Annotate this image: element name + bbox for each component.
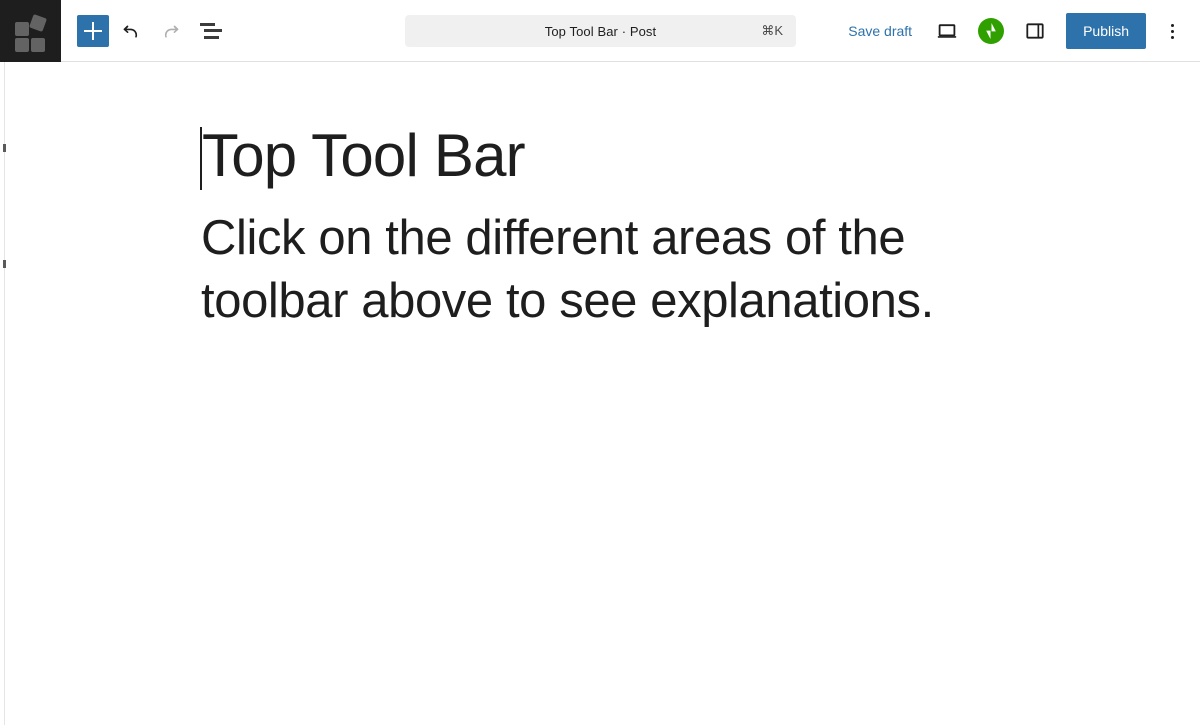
list-view-button[interactable] (193, 13, 229, 49)
canvas-left-rail (4, 62, 5, 725)
redo-arrow-icon (159, 19, 183, 43)
list-view-icon (200, 22, 222, 40)
settings-sidebar-icon (1023, 19, 1047, 43)
site-logo-button[interactable] (0, 0, 61, 62)
editor-top-toolbar: Top Tool Bar · Post ⌘K Save draft (0, 0, 1200, 62)
undo-arrow-icon (119, 19, 143, 43)
canvas-rail-tick (3, 260, 6, 268)
undo-button[interactable] (113, 13, 149, 49)
add-block-button[interactable] (77, 15, 109, 47)
jetpack-button[interactable] (973, 13, 1009, 49)
preview-button[interactable] (929, 13, 965, 49)
command-bar-shortcut: ⌘K (761, 23, 783, 39)
post-content-area: Top Tool Bar Click on the different area… (200, 122, 1020, 333)
redo-button[interactable] (153, 13, 189, 49)
save-draft-button[interactable]: Save draft (836, 17, 924, 45)
canvas-rail-tick (3, 144, 6, 152)
publish-button[interactable]: Publish (1066, 13, 1146, 49)
post-title[interactable]: Top Tool Bar (202, 122, 525, 189)
post-paragraph-block[interactable]: Click on the different areas of the tool… (201, 207, 961, 332)
toolbar-left-group (61, 13, 229, 49)
jetpack-icon (978, 18, 1004, 44)
command-bar-title: Top Tool Bar · Post (545, 24, 657, 39)
gutenberg-editor: Top Tool Bar · Post ⌘K Save draft (0, 0, 1200, 725)
wordpress-blocks-icon (14, 14, 48, 48)
toolbar-right-group: Save draft (836, 0, 1190, 62)
post-title-row: Top Tool Bar (200, 122, 1020, 189)
kebab-menu-icon (1171, 24, 1174, 27)
plus-icon (84, 22, 102, 40)
desktop-preview-icon (935, 19, 959, 43)
editor-options-button[interactable] (1154, 13, 1190, 49)
editor-canvas[interactable]: Top Tool Bar Click on the different area… (0, 62, 1200, 725)
settings-sidebar-toggle[interactable] (1017, 13, 1053, 49)
text-cursor-caret (200, 127, 202, 190)
command-bar[interactable]: Top Tool Bar · Post ⌘K (405, 15, 796, 47)
command-bar-wrapper: Top Tool Bar · Post ⌘K (405, 15, 796, 47)
